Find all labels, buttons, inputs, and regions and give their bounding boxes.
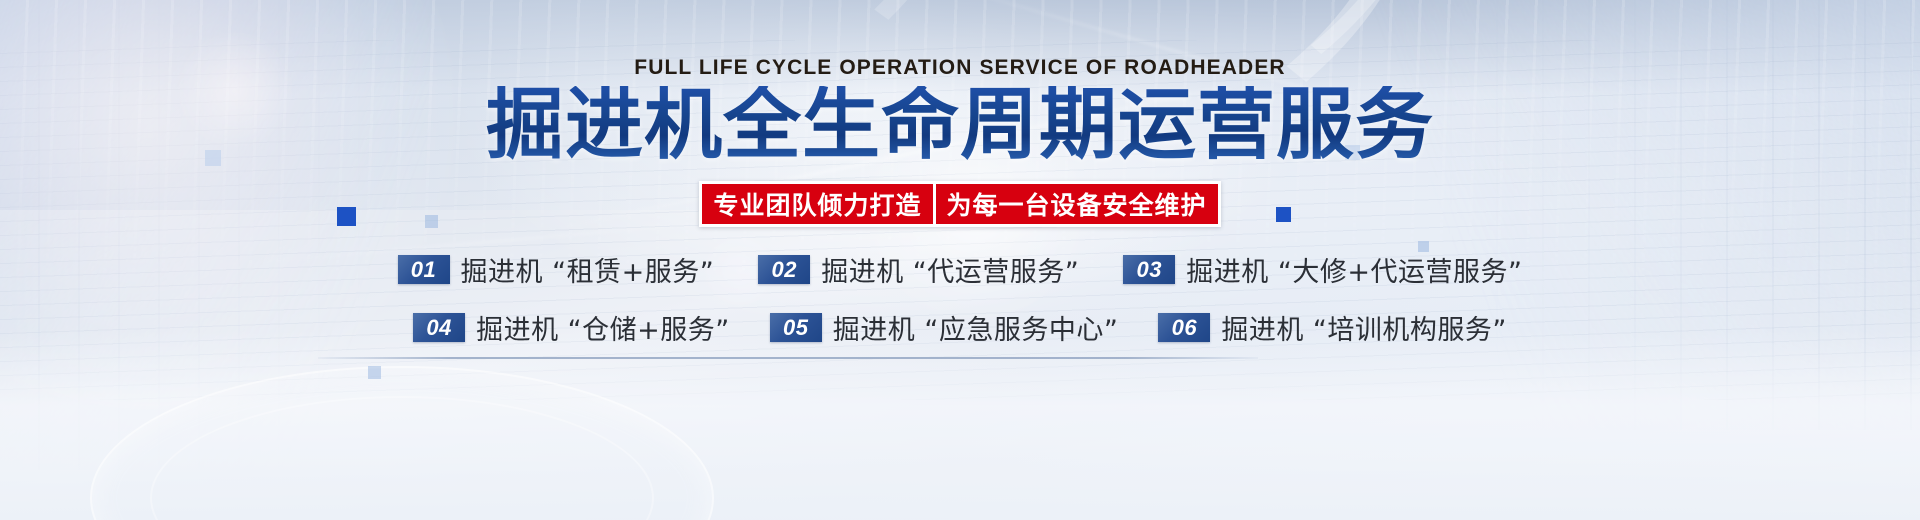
service-label: 掘进机 “大修+代运营服务”: [1186, 250, 1522, 289]
service-label: 掘进机 “仓储+服务”: [476, 308, 730, 347]
service-item-06[interactable]: 06 掘进机 “培训机构服务”: [1158, 308, 1507, 347]
service-list-divider: [318, 357, 1258, 359]
service-number-badge: 05: [770, 313, 822, 342]
service-label: 掘进机 “培训机构服务”: [1221, 308, 1507, 347]
banner-content: FULL LIFE CYCLE OPERATION SERVICE OF ROA…: [0, 0, 1920, 520]
service-number-badge: 06: [1158, 313, 1210, 342]
service-item-03[interactable]: 03 掘进机 “大修+代运营服务”: [1123, 250, 1522, 289]
promotional-banner: FULL LIFE CYCLE OPERATION SERVICE OF ROA…: [0, 0, 1920, 520]
service-number-badge: 02: [758, 255, 810, 284]
service-number-badge: 03: [1123, 255, 1175, 284]
red-slogan-badge: 专业团队倾力打造 为每一台设备安全维护: [699, 181, 1220, 227]
red-badge-left-text: 专业团队倾力打造: [702, 184, 932, 224]
service-item-01[interactable]: 01 掘进机 “租赁+服务”: [398, 250, 715, 289]
page-title: 掘进机全生命周期运营服务: [0, 86, 1920, 166]
service-number-badge: 04: [413, 313, 465, 342]
english-tagline: FULL LIFE CYCLE OPERATION SERVICE OF ROA…: [0, 56, 1920, 80]
service-row-2: 04 掘进机 “仓储+服务” 05 掘进机 “应急服务中心” 06 掘进机 “培…: [0, 308, 1920, 347]
service-number-badge: 01: [398, 255, 450, 284]
red-badge-right-text: 为每一台设备安全维护: [936, 184, 1218, 224]
service-row-1: 01 掘进机 “租赁+服务” 02 掘进机 “代运营服务” 03 掘进机 “大修…: [0, 250, 1920, 289]
service-item-04[interactable]: 04 掘进机 “仓储+服务”: [413, 308, 730, 347]
service-label: 掘进机 “租赁+服务”: [461, 250, 715, 289]
service-item-05[interactable]: 05 掘进机 “应急服务中心”: [770, 308, 1119, 347]
service-label: 掘进机 “代运营服务”: [821, 250, 1079, 289]
service-label: 掘进机 “应急服务中心”: [833, 308, 1119, 347]
red-badge-wrapper: 专业团队倾力打造 为每一台设备安全维护: [0, 181, 1920, 227]
service-item-02[interactable]: 02 掘进机 “代运营服务”: [758, 250, 1079, 289]
